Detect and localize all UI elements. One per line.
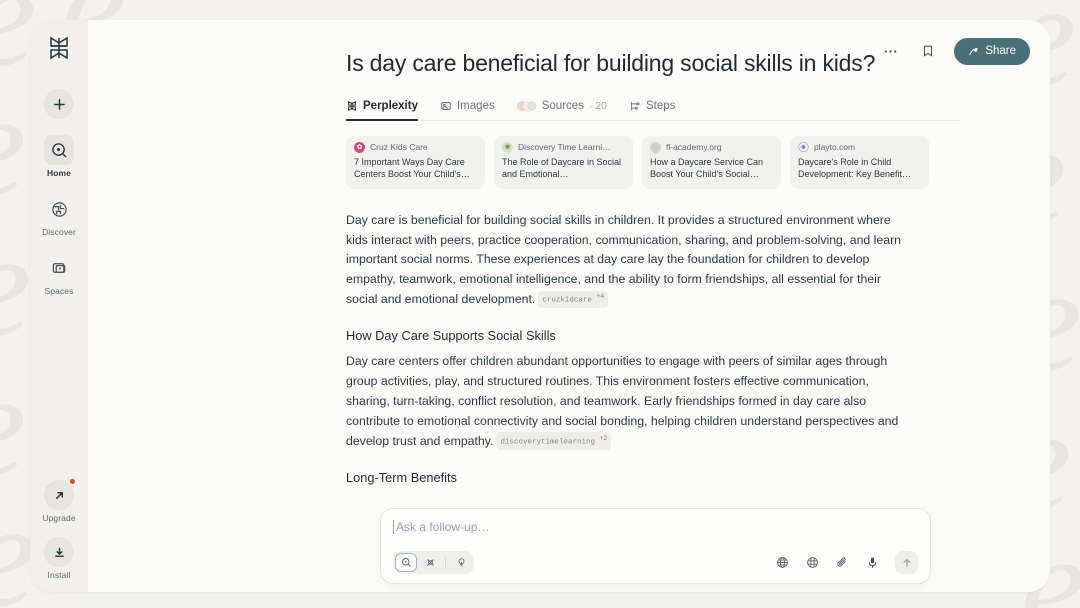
app-window: Home Discover Spaces xyxy=(30,20,1050,592)
answer-paragraph-text: Day care centers offer children abundant… xyxy=(346,354,898,448)
sidebar-item-install[interactable]: Install xyxy=(30,537,88,580)
watermark-glyph: e xyxy=(0,210,32,360)
tab-steps[interactable]: Steps xyxy=(629,100,675,120)
source-card-header: ◌ fl-academy.org xyxy=(650,142,773,153)
tab-sources[interactable]: Sources · 20 xyxy=(517,100,607,120)
citation-extra: +4 xyxy=(596,293,604,300)
tab-count: · 20 xyxy=(589,100,607,112)
source-favicon-icon: ✿ xyxy=(354,142,365,153)
followup-composer xyxy=(380,508,931,584)
perplexity-mark-icon xyxy=(346,100,358,112)
sidebar-item-label: Install xyxy=(48,570,71,580)
spaces-stack-icon xyxy=(44,253,74,283)
tab-label: Perplexity xyxy=(363,100,418,112)
tab-label: Steps xyxy=(646,100,675,112)
source-title: Daycare's Role in Child Development: Key… xyxy=(798,156,921,180)
sidebar: Home Discover Spaces xyxy=(30,20,88,592)
upgrade-notification-badge xyxy=(69,478,76,485)
source-title: 7 Important Ways Day Care Centers Boost … xyxy=(354,156,477,180)
labs-bulb-icon[interactable] xyxy=(450,553,472,572)
source-favicon-icon: ⦿ xyxy=(798,142,809,153)
citation-extra: +2 xyxy=(599,435,607,442)
answer-paragraph: Day care is beneficial for building soci… xyxy=(346,211,906,311)
answer-body: Day care is beneficial for building soci… xyxy=(346,211,906,485)
source-card-header: ❀ Discovery Time Learni… xyxy=(502,142,625,153)
tab-bar: Perplexity Images xyxy=(346,100,960,121)
discover-globe-icon xyxy=(44,194,74,224)
download-icon xyxy=(44,537,74,567)
home-search-icon xyxy=(44,135,74,165)
citation-chip[interactable]: discoverytimelearning +2 xyxy=(496,432,611,450)
source-domain: fl-academy.org xyxy=(666,142,722,152)
source-card[interactable]: ❀ Discovery Time Learni… The Role of Day… xyxy=(494,136,633,189)
source-title: How a Daycare Service Can Boost Your Chi… xyxy=(650,156,773,180)
sidebar-item-upgrade[interactable]: Upgrade xyxy=(30,480,88,523)
research-mode-icon[interactable] xyxy=(419,553,441,572)
section-heading: Long-Term Benefits xyxy=(346,470,906,485)
answer-paragraph-text: Day care is beneficial for building soci… xyxy=(346,213,901,307)
tab-perplexity[interactable]: Perplexity xyxy=(346,100,418,120)
send-button[interactable] xyxy=(895,551,918,574)
source-title: The Role of Daycare in Social and Emotio… xyxy=(502,156,625,180)
attachment-icon[interactable] xyxy=(833,554,851,572)
globe-icon[interactable] xyxy=(773,554,791,572)
source-favicon-icon: ❀ xyxy=(502,142,513,153)
source-card-header: ✿ Cruz Kids Care xyxy=(354,142,477,153)
sidebar-item-discover[interactable]: Discover xyxy=(30,194,88,237)
sidebar-item-home[interactable]: Home xyxy=(30,135,88,178)
section-heading: How Day Care Supports Social Skills xyxy=(346,328,906,343)
page-title: Is day care beneficial for building soci… xyxy=(346,50,876,78)
sidebar-item-label: Spaces xyxy=(45,286,74,296)
tab-label: Images xyxy=(457,100,495,112)
source-domain: Discovery Time Learni… xyxy=(518,142,611,152)
source-domain: Cruz Kids Care xyxy=(370,142,428,152)
arrow-up-right-icon xyxy=(44,480,74,510)
microphone-icon[interactable] xyxy=(863,554,881,572)
source-card[interactable]: ✿ Cruz Kids Care 7 Important Ways Day Ca… xyxy=(346,136,485,189)
composer-toolbar xyxy=(393,551,918,574)
citation-chip[interactable]: cruzkidcare +4 xyxy=(538,291,608,309)
search-mode-icon[interactable] xyxy=(395,553,417,572)
perplexity-logo-icon[interactable] xyxy=(45,34,73,67)
answer-paragraph: Day care centers offer children abundant… xyxy=(346,352,906,452)
source-avatars-icon xyxy=(517,100,537,112)
image-icon xyxy=(440,100,452,112)
sidebar-item-label: Upgrade xyxy=(42,513,75,523)
web-grid-icon[interactable] xyxy=(803,554,821,572)
arrow-up-icon xyxy=(901,557,913,569)
new-thread-button[interactable] xyxy=(44,89,74,119)
source-card[interactable]: ⦿ playto.com Daycare's Role in Child Dev… xyxy=(790,136,929,189)
composer-action-group xyxy=(773,551,918,574)
citation-label: discoverytimelearning xyxy=(500,438,595,446)
watermark-glyph: e xyxy=(0,70,27,220)
composer-mode-group xyxy=(393,551,474,574)
toolbar-divider xyxy=(445,557,446,569)
source-domain: playto.com xyxy=(814,142,855,152)
followup-input[interactable] xyxy=(393,520,918,534)
source-card-list: ✿ Cruz Kids Care 7 Important Ways Day Ca… xyxy=(346,136,960,189)
main-content: Share Is day care beneficial for buildin… xyxy=(88,20,1050,592)
tab-images[interactable]: Images xyxy=(440,100,495,120)
tab-label: Sources xyxy=(542,100,584,112)
source-card-header: ⦿ playto.com xyxy=(798,142,921,153)
source-card[interactable]: ◌ fl-academy.org How a Daycare Service C… xyxy=(642,136,781,189)
citation-label: cruzkidcare xyxy=(542,297,592,305)
source-favicon-icon: ◌ xyxy=(650,142,661,153)
sidebar-item-spaces[interactable]: Spaces xyxy=(30,253,88,296)
sidebar-item-label: Discover xyxy=(42,227,76,237)
steps-icon xyxy=(629,100,641,112)
sidebar-item-label: Home xyxy=(47,168,71,178)
